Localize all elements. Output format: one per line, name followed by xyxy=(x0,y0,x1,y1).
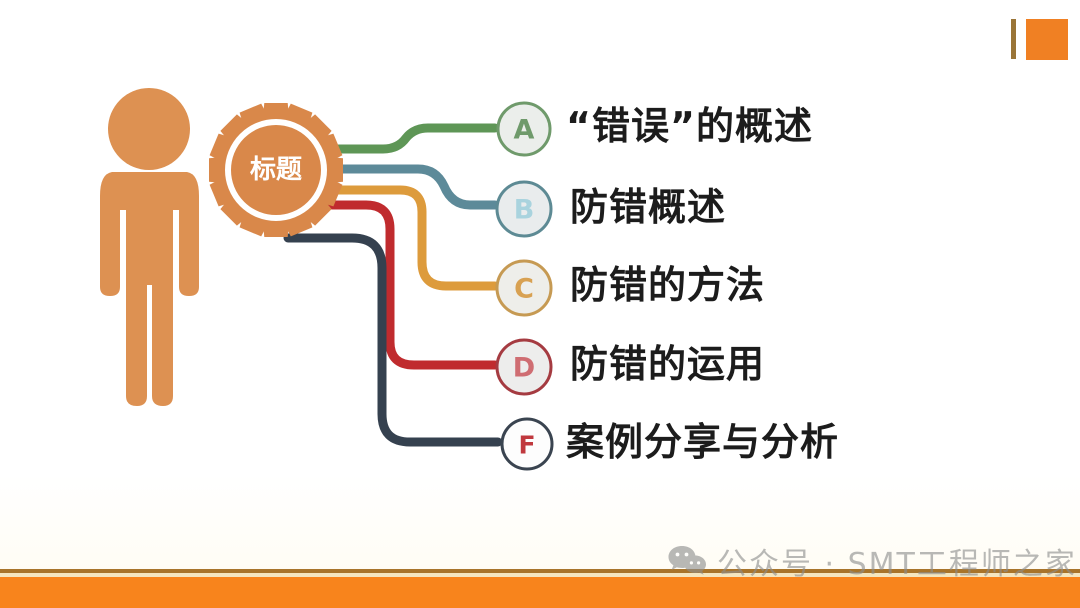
connector-line-a xyxy=(318,128,495,149)
node-letter-a: A xyxy=(514,115,535,146)
node-circle-f[interactable]: F xyxy=(502,419,552,469)
node-label-d: 防错的运用 xyxy=(570,345,765,383)
gear-hub: 标题 xyxy=(209,103,343,237)
gear-hub-label: 标题 xyxy=(250,155,302,185)
slide-canvas: 标题 A B C D F “错误”的概述 防错概述 防错的方法 防错 xyxy=(0,0,1080,608)
node-letter-f: F xyxy=(518,431,535,460)
wechat-icon xyxy=(668,545,708,577)
node-label-c: 防错的方法 xyxy=(570,266,765,304)
node-letter-b: B xyxy=(514,195,535,226)
node-circle-a[interactable]: A xyxy=(498,103,550,155)
node-label-b: 防错概述 xyxy=(570,188,726,226)
node-circle-b[interactable]: B xyxy=(497,182,551,236)
node-letter-c: C xyxy=(514,274,534,305)
node-circle-c[interactable]: C xyxy=(497,261,551,315)
watermark-text: 公众号 · SMT工程师之家 xyxy=(717,539,1077,583)
node-label-f: 案例分享与分析 xyxy=(566,423,839,461)
person-icon xyxy=(100,88,199,406)
node-letter-d: D xyxy=(513,353,535,384)
diagram-artwork: 标题 A B C D F xyxy=(0,0,1080,608)
watermark: 公众号 · SMT工程师之家 xyxy=(668,539,1077,583)
node-circle-d[interactable]: D xyxy=(497,340,551,394)
node-label-a: “错误”的概述 xyxy=(566,107,813,145)
